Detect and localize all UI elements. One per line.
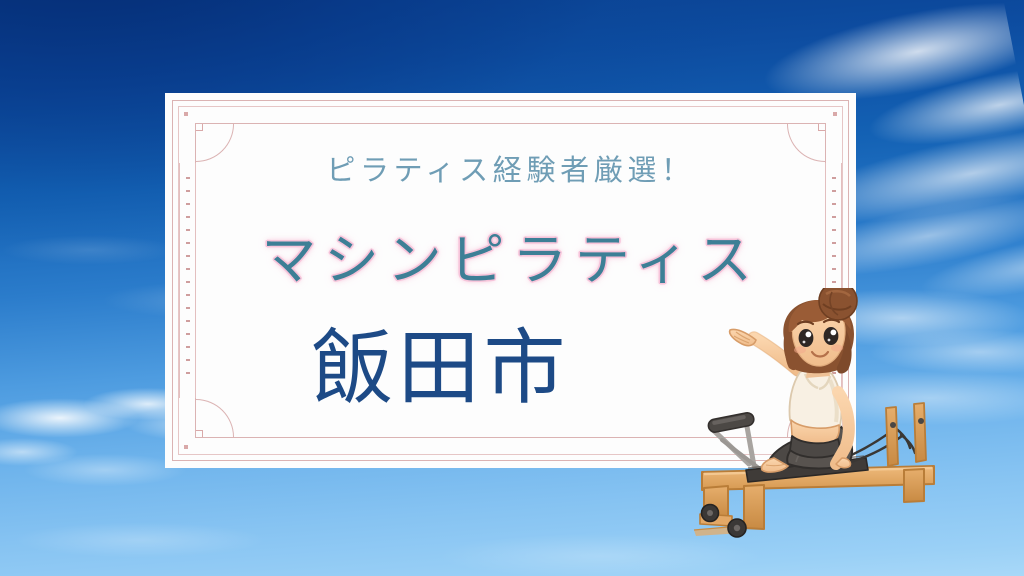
corner-dot-top-right xyxy=(833,112,837,116)
white-tank-top xyxy=(789,369,841,430)
frame-outer-left xyxy=(172,100,173,461)
corner-tick-top-left xyxy=(196,124,203,131)
reformer-risers xyxy=(886,403,926,466)
frame-inner-top xyxy=(178,106,843,107)
reformer-footbar xyxy=(707,412,760,469)
side-ribbon-left xyxy=(179,163,196,398)
hair-bun xyxy=(819,288,857,320)
pilates-illustration xyxy=(688,288,944,544)
reformer-frame xyxy=(700,466,934,537)
corner-dot-bottom-left xyxy=(184,445,188,449)
ribbon-dots-left xyxy=(186,177,190,384)
corner-dot-top-left xyxy=(184,112,188,116)
corner-tick-bottom-left xyxy=(196,430,203,437)
corner-tick-top-right xyxy=(818,124,825,131)
frame-main-top xyxy=(195,123,826,124)
frame-outer-top xyxy=(172,100,849,101)
